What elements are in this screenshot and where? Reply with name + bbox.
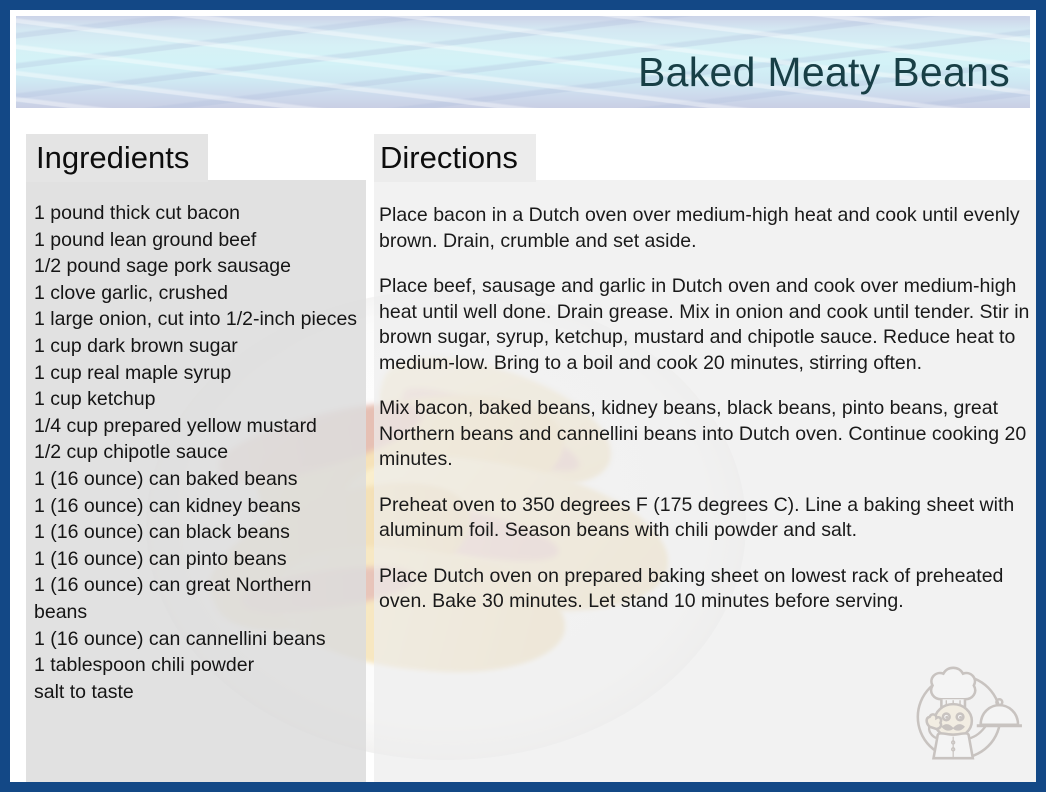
ingredient-item: 1 cup ketchup [34,386,362,413]
title-banner: Baked Meaty Beans [16,16,1030,108]
ingredient-item: 1/4 cup prepared yellow mustard [34,413,362,440]
ingredient-item: 1 (16 ounce) can baked beans [34,466,362,493]
ingredients-heading: Ingredients [36,140,189,176]
ingredient-item: salt to taste [34,679,362,706]
direction-step: Place Dutch oven on prepared baking shee… [379,564,1031,615]
ingredient-item: 1 (16 ounce) can black beans [34,519,362,546]
ingredient-item: 1 large onion, cut into 1/2-inch pieces [34,306,362,333]
directions-steps: Place bacon in a Dutch oven over medium-… [379,203,1031,615]
ingredient-item: 1 (16 ounce) can great Northern beans [34,572,362,625]
ingredients-list: 1 pound thick cut bacon1 pound lean grou… [34,200,362,705]
ingredient-item: 1 clove garlic, crushed [34,280,362,307]
ingredient-item: 1 pound thick cut bacon [34,200,362,227]
page-title: Baked Meaty Beans [638,49,1010,96]
ingredient-item: 1 (16 ounce) can cannellini beans [34,626,362,653]
ingredient-item: 1/2 cup chipotle sauce [34,439,362,466]
ingredient-item: 1/2 pound sage pork sausage [34,253,362,280]
direction-step: Place bacon in a Dutch oven over medium-… [379,203,1031,254]
direction-step: Mix bacon, baked beans, kidney beans, bl… [379,396,1031,473]
ingredient-item: 1 (16 ounce) can kidney beans [34,493,362,520]
chef-mascot-logo [904,656,1022,768]
recipe-card: Baked Meaty Beans Ingredients Directions… [0,0,1046,792]
ingredient-item: 1 cup dark brown sugar [34,333,362,360]
ingredient-item: 1 (16 ounce) can pinto beans [34,546,362,573]
ingredient-item: 1 pound lean ground beef [34,227,362,254]
directions-heading: Directions [380,140,518,176]
direction-step: Preheat oven to 350 degrees F (175 degre… [379,493,1031,544]
ingredient-item: 1 tablespoon chili powder [34,652,362,679]
direction-step: Place beef, sausage and garlic in Dutch … [379,274,1031,376]
ingredient-item: 1 cup real maple syrup [34,360,362,387]
